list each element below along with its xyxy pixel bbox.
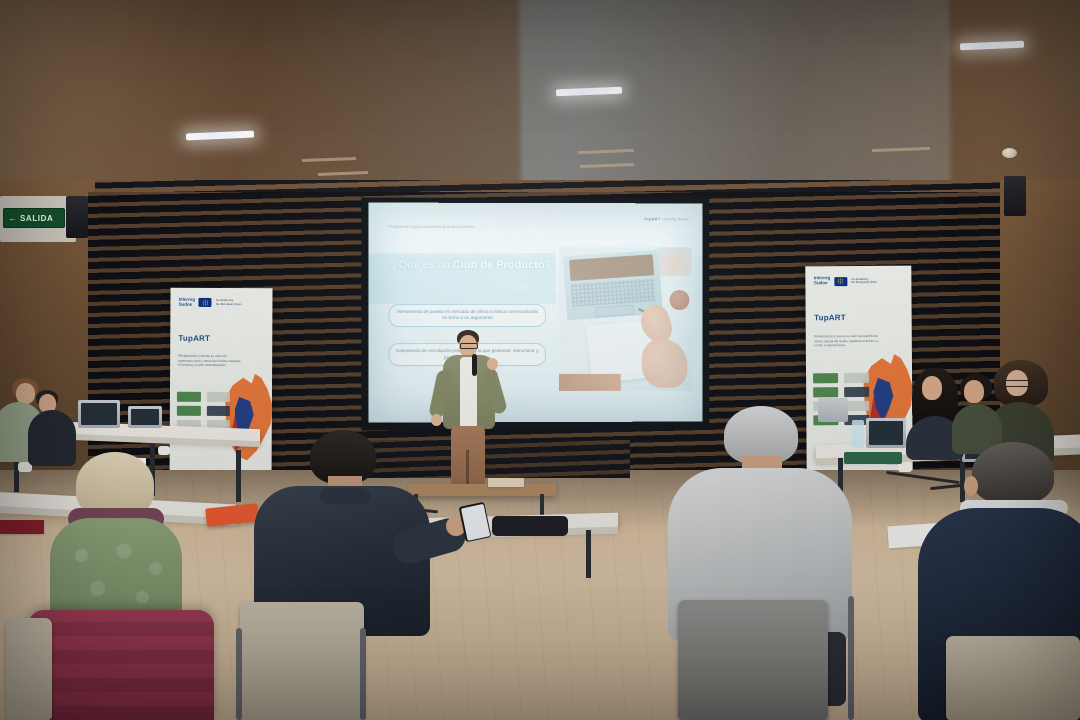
laptop-bag bbox=[492, 516, 568, 536]
attendee-collar bbox=[320, 488, 370, 504]
partner-logo bbox=[177, 406, 201, 416]
chair-frame bbox=[848, 596, 854, 720]
presenter-hand-right bbox=[487, 358, 498, 370]
banner-header: Interreg Sudoe Co-funded by the European… bbox=[179, 298, 265, 308]
eu-flag-icon bbox=[199, 298, 212, 307]
table-leg bbox=[236, 450, 241, 502]
projection-screen: Programa de mejora competitiva de la ofe… bbox=[368, 203, 702, 423]
partner-logo bbox=[177, 392, 201, 402]
presenter-hand-left bbox=[431, 414, 442, 426]
chair-frame bbox=[236, 628, 242, 720]
conference-room-photo: ← SALIDA Programa de mejora competitiva … bbox=[0, 0, 1080, 720]
paper-sheet bbox=[0, 520, 44, 534]
attendee-glasses bbox=[1004, 380, 1030, 387]
banner-header: Interreg Sudoe Co-funded by the European… bbox=[814, 276, 903, 286]
slide-title-bold: Club de Producto bbox=[453, 259, 545, 271]
slide-bullet-text: Herramienta de puesta en mercado de ofer… bbox=[396, 309, 539, 322]
presenter-leg-gap bbox=[466, 450, 469, 486]
wooden-slat-ceiling bbox=[0, 0, 1080, 201]
eu-flag-icon bbox=[834, 277, 847, 286]
laptop-screen bbox=[81, 403, 117, 425]
ceiling-smoke-detector bbox=[1002, 148, 1017, 158]
banner-project-subtitle: Revitalización y puesta en valor del pat… bbox=[814, 334, 880, 348]
chair-back bbox=[240, 602, 364, 720]
presentation-slide: Programa de mejora competitiva de la ofe… bbox=[368, 203, 702, 423]
exit-sign-label: SALIDA bbox=[20, 214, 53, 223]
water-bottle bbox=[852, 420, 864, 448]
burgundy-jacket-on-chair bbox=[28, 610, 214, 720]
interreg-logo-line2: Sudoe bbox=[179, 303, 195, 308]
partner-logo bbox=[844, 387, 869, 397]
laptop-screen bbox=[869, 421, 903, 445]
exit-sign: ← SALIDA bbox=[3, 208, 65, 228]
partner-logo bbox=[207, 392, 231, 402]
slide-title: ¿Qué es un Club de Producto? bbox=[392, 259, 553, 272]
slide-title-part2: ? bbox=[545, 259, 551, 271]
slide-brand-logo-sub: Interreg Sudoe bbox=[663, 217, 689, 221]
slide-brand-logo: TupARTInterreg Sudoe bbox=[644, 216, 689, 221]
chair-back bbox=[678, 600, 828, 720]
slide-eyebrow-text: Programa de mejora competitiva de la ofe… bbox=[389, 225, 475, 229]
slide-photo-desk-edge bbox=[559, 374, 620, 391]
presenter-glasses bbox=[460, 343, 478, 349]
microphone bbox=[472, 354, 477, 376]
slide-brand-logo-text: TupART bbox=[644, 216, 661, 221]
slide-photo bbox=[559, 247, 692, 391]
slide-photo-topright-object bbox=[657, 247, 692, 276]
eu-funding-text: Co-funded by the European Union bbox=[216, 299, 242, 306]
wall-speaker bbox=[66, 196, 88, 238]
ceiling-shading bbox=[0, 0, 1080, 201]
partner-logo bbox=[814, 387, 839, 397]
attendee-head bbox=[922, 376, 942, 400]
slide-photo-hand bbox=[642, 339, 687, 388]
partner-logo bbox=[844, 373, 869, 383]
eu-funding-text: Co-funded by the European Union bbox=[851, 277, 877, 284]
chair-back bbox=[6, 618, 52, 720]
interreg-logo: Interreg Sudoe bbox=[179, 298, 195, 308]
exit-arrow-icon: ← bbox=[8, 214, 17, 223]
interreg-logo-line2: Sudoe bbox=[814, 281, 830, 286]
slide-title-part1: ¿Qué es un bbox=[392, 259, 453, 271]
eu-funding-line2: the European Union bbox=[216, 303, 242, 307]
attendee-ear bbox=[964, 476, 978, 496]
chair-frame bbox=[360, 628, 366, 720]
interreg-logo: Interreg Sudoe bbox=[814, 276, 830, 286]
slide-photo-coffee-cup bbox=[670, 290, 690, 310]
banner-project-subtitle: Revitalización y puesta en valor del pat… bbox=[178, 354, 241, 368]
eu-funding-line2: the European Union bbox=[851, 281, 877, 285]
wall-speaker bbox=[1004, 176, 1026, 216]
banner-project-title: TupART bbox=[814, 313, 846, 322]
slide-photo-trackpad bbox=[595, 305, 634, 317]
green-folder bbox=[844, 452, 902, 464]
partner-logo bbox=[206, 406, 230, 416]
table-leg bbox=[586, 530, 591, 578]
partner-logo bbox=[813, 373, 838, 383]
open-notebook bbox=[488, 478, 524, 487]
chair-back bbox=[946, 636, 1080, 720]
attendee-head bbox=[964, 380, 984, 403]
slide-photo-keyboard bbox=[570, 278, 656, 307]
laptop-screen bbox=[131, 409, 159, 425]
banner-project-title: TupART bbox=[178, 334, 210, 343]
slide-bullet-box: Herramienta de puesta en mercado de ofer… bbox=[389, 304, 546, 327]
attendee-hair bbox=[972, 442, 1054, 504]
